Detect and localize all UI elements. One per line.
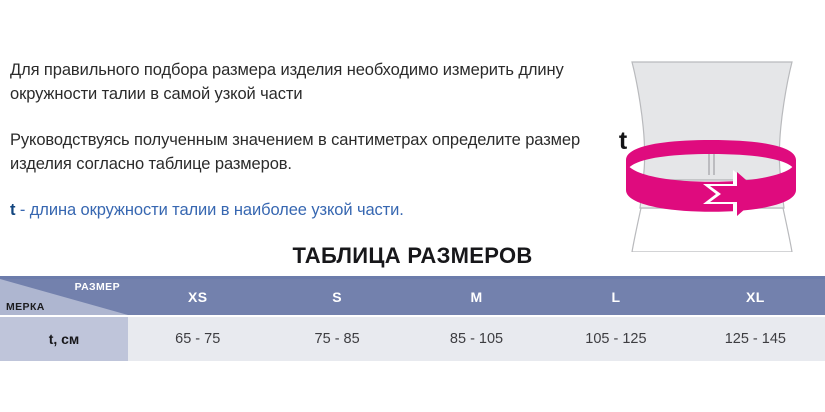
table-row: t, см 65 - 75 75 - 85 85 - 105 105 - 125… [0,317,825,361]
column-header-xs: XS [128,279,267,315]
measurement-legend: t - длина окружности талии в наиболее уз… [10,198,590,222]
column-header-l: L [546,279,685,315]
corner-size-label: РАЗМЕР [75,281,120,293]
page-title: ТАБЛИЦА РАЗМЕРОВ [0,243,825,269]
size-table: РАЗМЕР МЕРКА XS S M L XL t, см 65 - 75 7… [0,276,825,361]
corner-measure-label: МЕРКА [6,301,45,313]
cell-waist-xl: 125 - 145 [686,317,825,361]
cell-waist-s: 75 - 85 [267,317,406,361]
waist-measurement-illustration: t [598,12,825,252]
instructions-block: Для правильного подбора размера изделия … [10,58,590,222]
table-corner-cell: РАЗМЕР МЕРКА [0,279,128,315]
cell-waist-l: 105 - 125 [546,317,685,361]
legend-text: - длина окружности талии в наиболее узко… [15,201,403,219]
column-header-m: M [407,279,546,315]
torso-shape [632,62,792,180]
column-header-s: S [267,279,406,315]
column-header-xl: XL [686,279,825,315]
illustration-t-label: t [619,127,628,155]
instruction-paragraph-2: Руководствуясь полученным значением в са… [10,128,590,176]
cell-waist-xs: 65 - 75 [128,317,267,361]
table-header-row: РАЗМЕР МЕРКА XS S M L XL [0,279,825,315]
row-header-waist: t, см [0,317,128,361]
instruction-paragraph-1: Для правильного подбора размера изделия … [10,58,590,106]
cell-waist-m: 85 - 105 [407,317,546,361]
